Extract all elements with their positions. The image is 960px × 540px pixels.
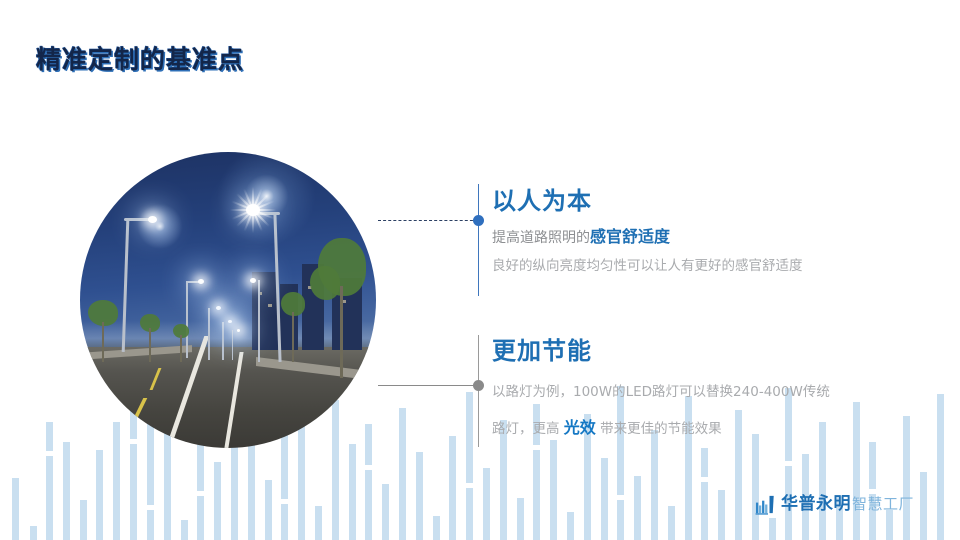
building-window	[268, 304, 272, 307]
tree-trunk	[180, 335, 182, 362]
lamp-pole	[258, 280, 260, 362]
decoration-bar	[634, 476, 641, 540]
feature-body-2-highlight: 光效	[564, 418, 596, 437]
circular-photo	[80, 152, 376, 448]
feature-subtitle-1: 提高道路照明的感官舒适度	[492, 225, 803, 249]
connector-hline-2	[378, 385, 478, 386]
street-lamp	[250, 278, 256, 283]
decoration-bar	[349, 444, 356, 540]
roadside-tree	[310, 238, 372, 378]
decoration-bar	[214, 462, 221, 540]
tree-trunk	[102, 322, 104, 362]
decoration-bar	[567, 512, 574, 540]
decoration-bar	[668, 506, 675, 540]
decoration-bar	[769, 518, 776, 540]
decoration-bar	[96, 450, 103, 540]
roadside-tree	[86, 300, 120, 360]
roadside-tree	[278, 292, 308, 362]
feature-subtitle-1-prefix: 提高道路照明的	[492, 230, 590, 246]
feature-subtitle-1-highlight: 感官舒适度	[590, 227, 670, 246]
decoration-bar-notch	[466, 483, 473, 488]
decoration-bar	[517, 498, 524, 540]
tree-trunk	[292, 312, 294, 362]
brand-logo: 华普永明 智慧工厂	[755, 494, 914, 515]
lamp-pole	[222, 322, 224, 360]
connector-hline-1	[378, 220, 478, 221]
decoration-bar	[197, 432, 204, 540]
street-lamp	[198, 279, 204, 284]
factory-mark-icon	[755, 494, 776, 515]
feature-body-2-prefix: 路灯，更高	[492, 421, 564, 437]
logo-brand-name: 华普永明	[781, 496, 851, 513]
connector-dot-1	[473, 215, 484, 226]
logo-brand-suffix: 智慧工厂	[852, 497, 914, 512]
decoration-bar	[483, 468, 490, 540]
connector-dot-2	[473, 380, 484, 391]
tree-trunk	[340, 286, 343, 378]
feature-body-2-line2: 路灯，更高 光效 带来更佳的节能效果	[492, 410, 830, 445]
building	[252, 272, 278, 350]
page-title: 精准定制的基准点	[36, 40, 244, 76]
decoration-bar	[903, 416, 910, 540]
decoration-bar	[550, 440, 557, 540]
decoration-bar	[382, 484, 389, 540]
connector-vline-2	[478, 335, 479, 447]
decoration-bar-notch	[701, 477, 708, 482]
feature-desc-1: 良好的纵向亮度均匀性可以让人有更好的感官舒适度	[492, 253, 803, 280]
tree-trunk	[149, 328, 151, 362]
decoration-bar	[416, 452, 423, 540]
tree-foliage	[310, 266, 340, 300]
decoration-bar	[718, 490, 725, 540]
decoration-bar	[30, 526, 37, 540]
night-road-photo	[80, 152, 376, 448]
feature-block-2: 更加节能 以路灯为例，100W的LED路灯可以替换240-400W传统 路灯，更…	[492, 338, 830, 445]
street-lamp	[148, 216, 157, 223]
street-lamp	[237, 329, 240, 332]
decoration-bar	[399, 408, 406, 540]
decoration-bar	[869, 442, 876, 540]
street-lamp	[216, 306, 221, 310]
roadside-tree	[138, 314, 162, 362]
decoration-bar	[433, 516, 440, 540]
decoration-bar-notch	[147, 505, 154, 510]
lamp-pole	[232, 330, 233, 360]
decoration-bar-notch	[46, 451, 53, 456]
decoration-bar	[46, 422, 53, 540]
decoration-bar	[449, 436, 456, 540]
feature-body-2-suffix: 带来更佳的节能效果	[596, 421, 722, 437]
decoration-bar	[80, 500, 87, 540]
decoration-bar-notch	[197, 491, 204, 496]
lamp-pole	[208, 308, 210, 360]
street-lamp	[228, 320, 232, 323]
decoration-bar	[63, 442, 70, 540]
slide-canvas: 精准定制的基准点	[0, 0, 960, 540]
decoration-bar	[853, 402, 860, 540]
decoration-bar-notch	[785, 461, 792, 466]
decoration-bar	[231, 444, 238, 540]
decoration-bar-notch	[365, 465, 372, 470]
decoration-bar	[315, 506, 322, 540]
decoration-bar	[466, 392, 473, 540]
decoration-bar	[701, 448, 708, 540]
roadside-tree	[172, 324, 190, 362]
decoration-bar	[265, 480, 272, 540]
decoration-bar-notch	[533, 445, 540, 450]
decoration-bar-notch	[617, 495, 624, 500]
decoration-bar	[752, 434, 759, 540]
decoration-bar	[920, 472, 927, 540]
decoration-bar	[601, 458, 608, 540]
connector-vline-1	[478, 184, 479, 296]
feature-heading-2: 更加节能	[492, 338, 830, 364]
decoration-bar-notch	[281, 499, 288, 504]
feature-block-1: 以人为本 提高道路照明的感官舒适度 良好的纵向亮度均匀性可以让人有更好的感官舒适…	[492, 188, 803, 280]
decoration-bar	[181, 520, 188, 540]
decoration-bar	[937, 394, 944, 540]
feature-heading-1: 以人为本	[492, 188, 803, 214]
decoration-bar	[12, 478, 19, 540]
feature-body-2-line1: 以路灯为例，100W的LED路灯可以替换240-400W传统	[492, 378, 830, 408]
decoration-bar	[651, 430, 658, 540]
